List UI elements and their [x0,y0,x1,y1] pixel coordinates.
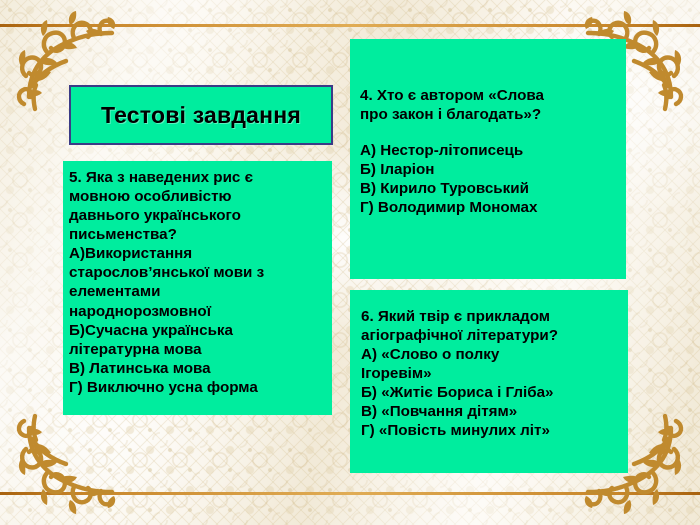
slide-title-box: Тестові завдання [69,85,333,145]
question-5-option-b[interactable]: Б)Сучасна українська [69,321,327,340]
question-5-prompt-line: письменства? [69,225,327,244]
question-4-box: 4. Хто є автором «Слова про закон і благ… [350,39,626,279]
question-6-text: 6. Який твір є прикладом агіографічної л… [361,307,618,441]
top-gold-rule [0,24,700,27]
question-6-option-a[interactable]: А) «Слово о полку [361,345,618,364]
question-5-option-g[interactable]: Г) Виключно усна форма [69,378,327,397]
question-5-option-a[interactable]: елементами [69,282,327,301]
question-5-prompt-line: 5. Яка з наведених рис є [69,168,327,187]
question-6-option-b[interactable]: Б) «Житіє Бориса і Гліба» [361,383,618,402]
question-5-option-v[interactable]: В) Латинська мова [69,359,327,378]
question-4-prompt-line: про закон і благодать»? [360,105,617,124]
question-4-option-a[interactable]: А) Нестор-літописець [360,141,617,160]
page-title: Тестові завдання [101,102,301,129]
question-6-option-v[interactable]: В) «Повчання дітям» [361,402,618,421]
question-5-prompt-line: давнього українського [69,206,327,225]
question-6-option-a[interactable]: Ігоревім» [361,364,618,383]
bottom-gold-rule [0,492,700,495]
question-4-prompt-line: 4. Хто є автором «Слова [360,86,617,105]
question-6-prompt-line: 6. Який твір є прикладом [361,307,618,326]
question-6-option-g[interactable]: Г) «Повість минулих літ» [361,421,618,440]
question-5-option-a[interactable]: А)Використання [69,244,327,263]
question-5-option-a[interactable]: старослов’янської мови з [69,263,327,282]
question-5-text: 5. Яка з наведених рис є мовною особливі… [69,168,327,397]
question-6-box: 6. Який твір є прикладом агіографічної л… [350,290,628,473]
question-5-option-b[interactable]: літературна мова [69,340,327,359]
question-5-box: 5. Яка з наведених рис є мовною особливі… [63,161,332,415]
question-4-spacer [360,124,617,141]
question-6-prompt-line: агіографічної літератури? [361,326,618,345]
question-4-option-b[interactable]: Б) Іларіон [360,160,617,179]
slide-canvas: Тестові завдання 5. Яка з наведених рис … [0,0,700,525]
question-4-option-g[interactable]: Г) Володимир Мономах [360,198,617,217]
question-4-option-v[interactable]: В) Кирило Туровський [360,179,617,198]
question-5-prompt-line: мовною особливістю [69,187,327,206]
question-5-option-a[interactable]: народнорозмовної [69,302,327,321]
question-4-text: 4. Хто є автором «Слова про закон і благ… [360,86,617,217]
